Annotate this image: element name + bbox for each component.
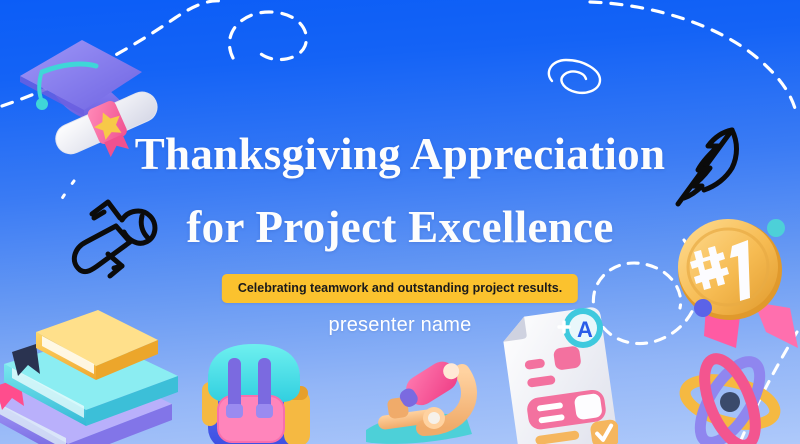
title-text-block: Thanksgiving Appreciation for Project Ex… bbox=[0, 0, 800, 444]
slide-canvas: A bbox=[0, 0, 800, 444]
page-title-line-1: Thanksgiving Appreciation bbox=[0, 128, 800, 180]
page-title-line-2: for Project Excellence bbox=[0, 201, 800, 253]
subtitle-badge: Celebrating teamwork and outstanding pro… bbox=[222, 274, 578, 303]
presenter-name: presenter name bbox=[0, 314, 800, 337]
